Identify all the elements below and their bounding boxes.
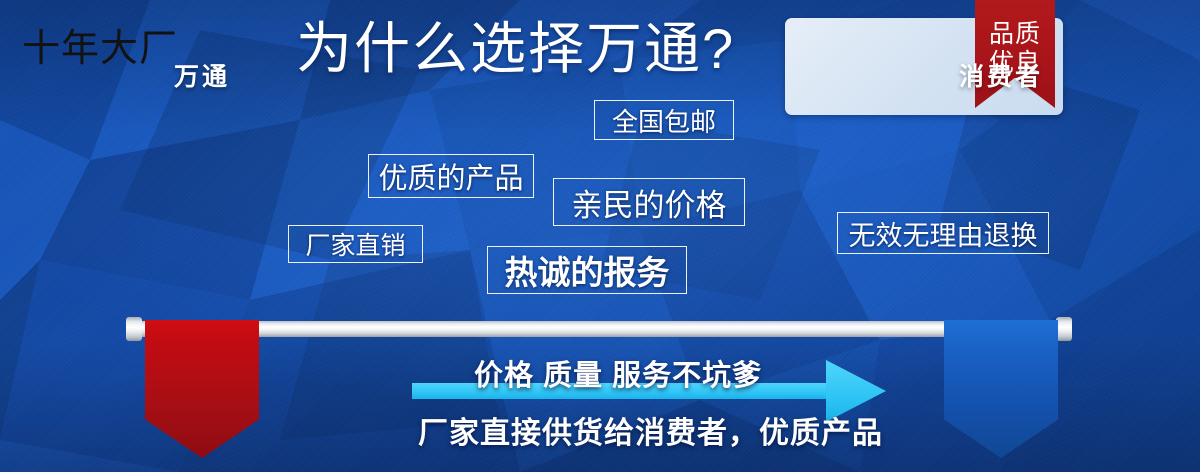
feature-tag-sincere-service: 热诚的报务: [487, 246, 687, 294]
slogan-primary: 价格 质量 服务不坑爹: [474, 352, 762, 394]
pennant-consumer-label: 消费者: [944, 57, 1058, 93]
rod-cap-left-icon: [126, 317, 142, 341]
feature-tag-quality-products: 优质的产品: [368, 154, 534, 198]
promo-banner: 为什么选择万通? 十年大厂 品质优良 全国包邮 优质的产品 亲民的价格 厂家直销…: [0, 0, 1200, 472]
slogan-secondary: 厂家直接供货给消费者，优质产品: [418, 408, 883, 452]
feature-tag-nationwide-shipping: 全国包邮: [594, 100, 734, 140]
feature-tag-factory-direct: 厂家直销: [288, 225, 423, 263]
rod-cap-right-icon: [1056, 317, 1072, 341]
hanging-rod: [136, 321, 1064, 337]
page-title: 为什么选择万通?: [296, 14, 735, 84]
pennant-manufacturer-label: 万通: [145, 57, 259, 93]
feature-tag-affordable-price: 亲民的价格: [553, 178, 745, 226]
feature-tag-free-returns: 无效无理由退换: [837, 212, 1049, 254]
